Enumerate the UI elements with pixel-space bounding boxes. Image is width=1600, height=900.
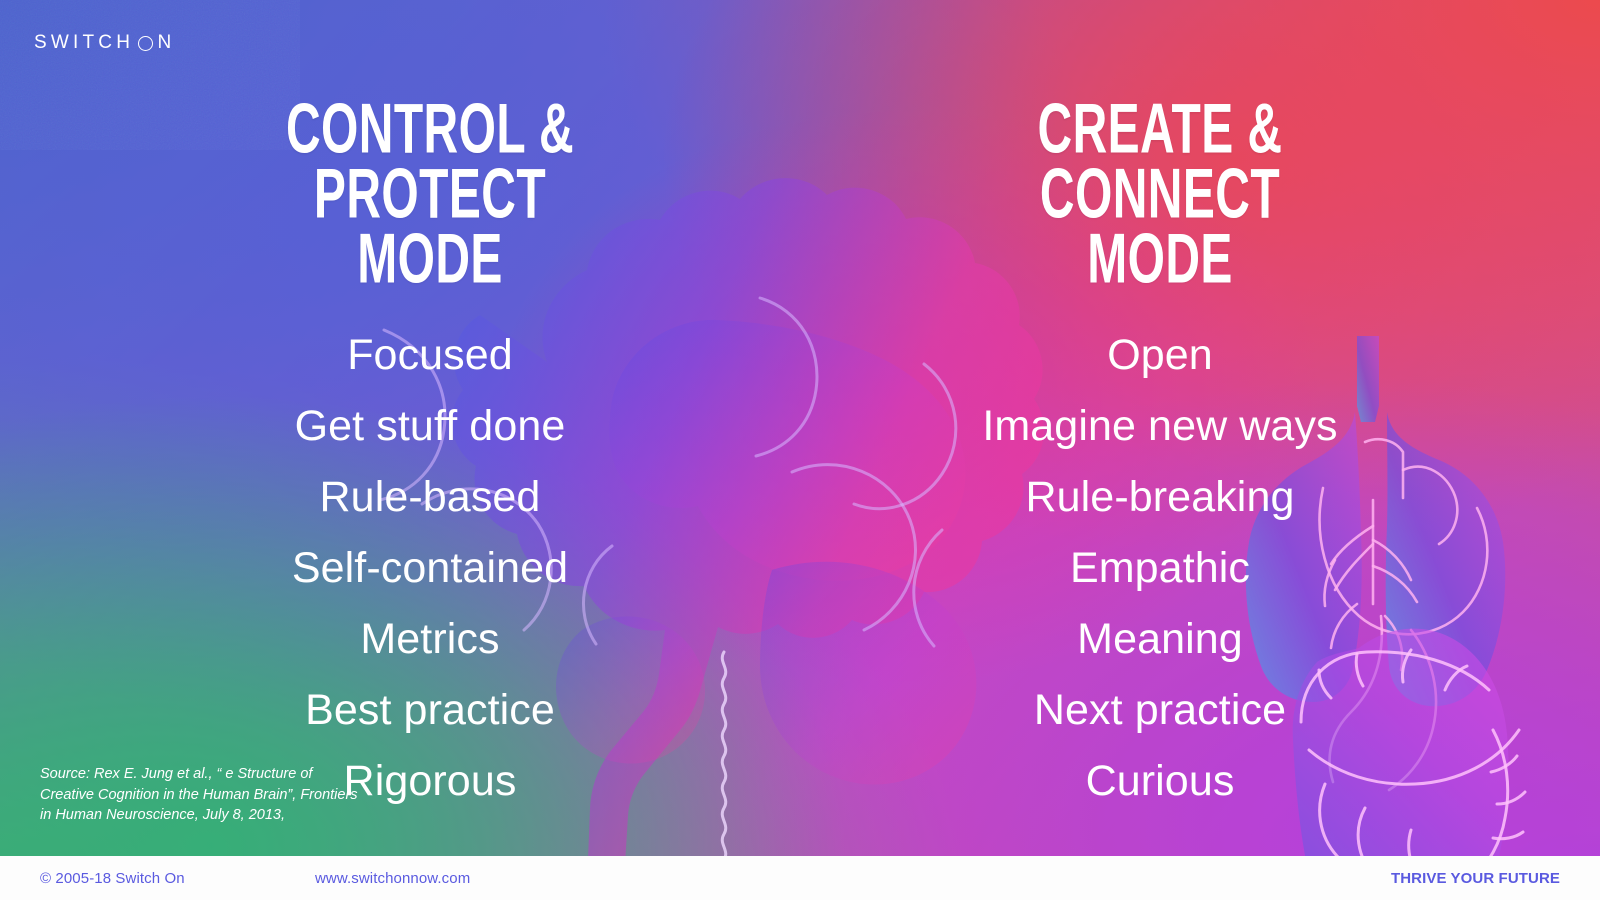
heading-control-protect: CONTROL & PROTECT MODE (222, 96, 638, 291)
brand-logo[interactable]: SWITCH N (34, 32, 175, 54)
list-item: Next practice (900, 689, 1420, 732)
list-item: Empathic (900, 547, 1420, 590)
list-item: Rule-based (170, 476, 690, 519)
list-item: Self-contained (170, 547, 690, 590)
list-item: Focused (170, 334, 690, 377)
list-item: Meaning (900, 618, 1420, 661)
slide-canvas: SWITCH N CONTROL & PROTECT MODE Focused … (0, 0, 1600, 900)
list-control-protect: Focused Get stuff done Rule-based Self-c… (170, 334, 690, 803)
source-citation: Source: Rex E. Jung et al., “ e Structur… (40, 764, 440, 826)
logo-text: SWITCH (34, 32, 134, 54)
list-item: Open (900, 334, 1420, 377)
list-item: Best practice (170, 689, 690, 732)
heading-create-connect: CREATE & CONNECT MODE (952, 96, 1368, 291)
list-item: Metrics (170, 618, 690, 661)
list-item: Curious (900, 760, 1420, 803)
footer-tagline: THRIVE YOUR FUTURE (1391, 870, 1560, 887)
column-create-connect: CREATE & CONNECT MODE Open Imagine new w… (900, 96, 1420, 831)
list-create-connect: Open Imagine new ways Rule-breaking Empa… (900, 334, 1420, 803)
footer-copyright: © 2005-18 Switch On (40, 870, 185, 887)
footer-website-link[interactable]: www.switchonnow.com (315, 870, 470, 887)
circle-o-icon (138, 36, 153, 51)
list-item: Rule-breaking (900, 476, 1420, 519)
logo-text-tail: N (158, 32, 176, 54)
list-item: Imagine new ways (900, 405, 1420, 448)
column-control-protect: CONTROL & PROTECT MODE Focused Get stuff… (170, 96, 690, 831)
list-item: Get stuff done (170, 405, 690, 448)
footer-bar: © 2005-18 Switch On www.switchonnow.com … (0, 856, 1600, 900)
